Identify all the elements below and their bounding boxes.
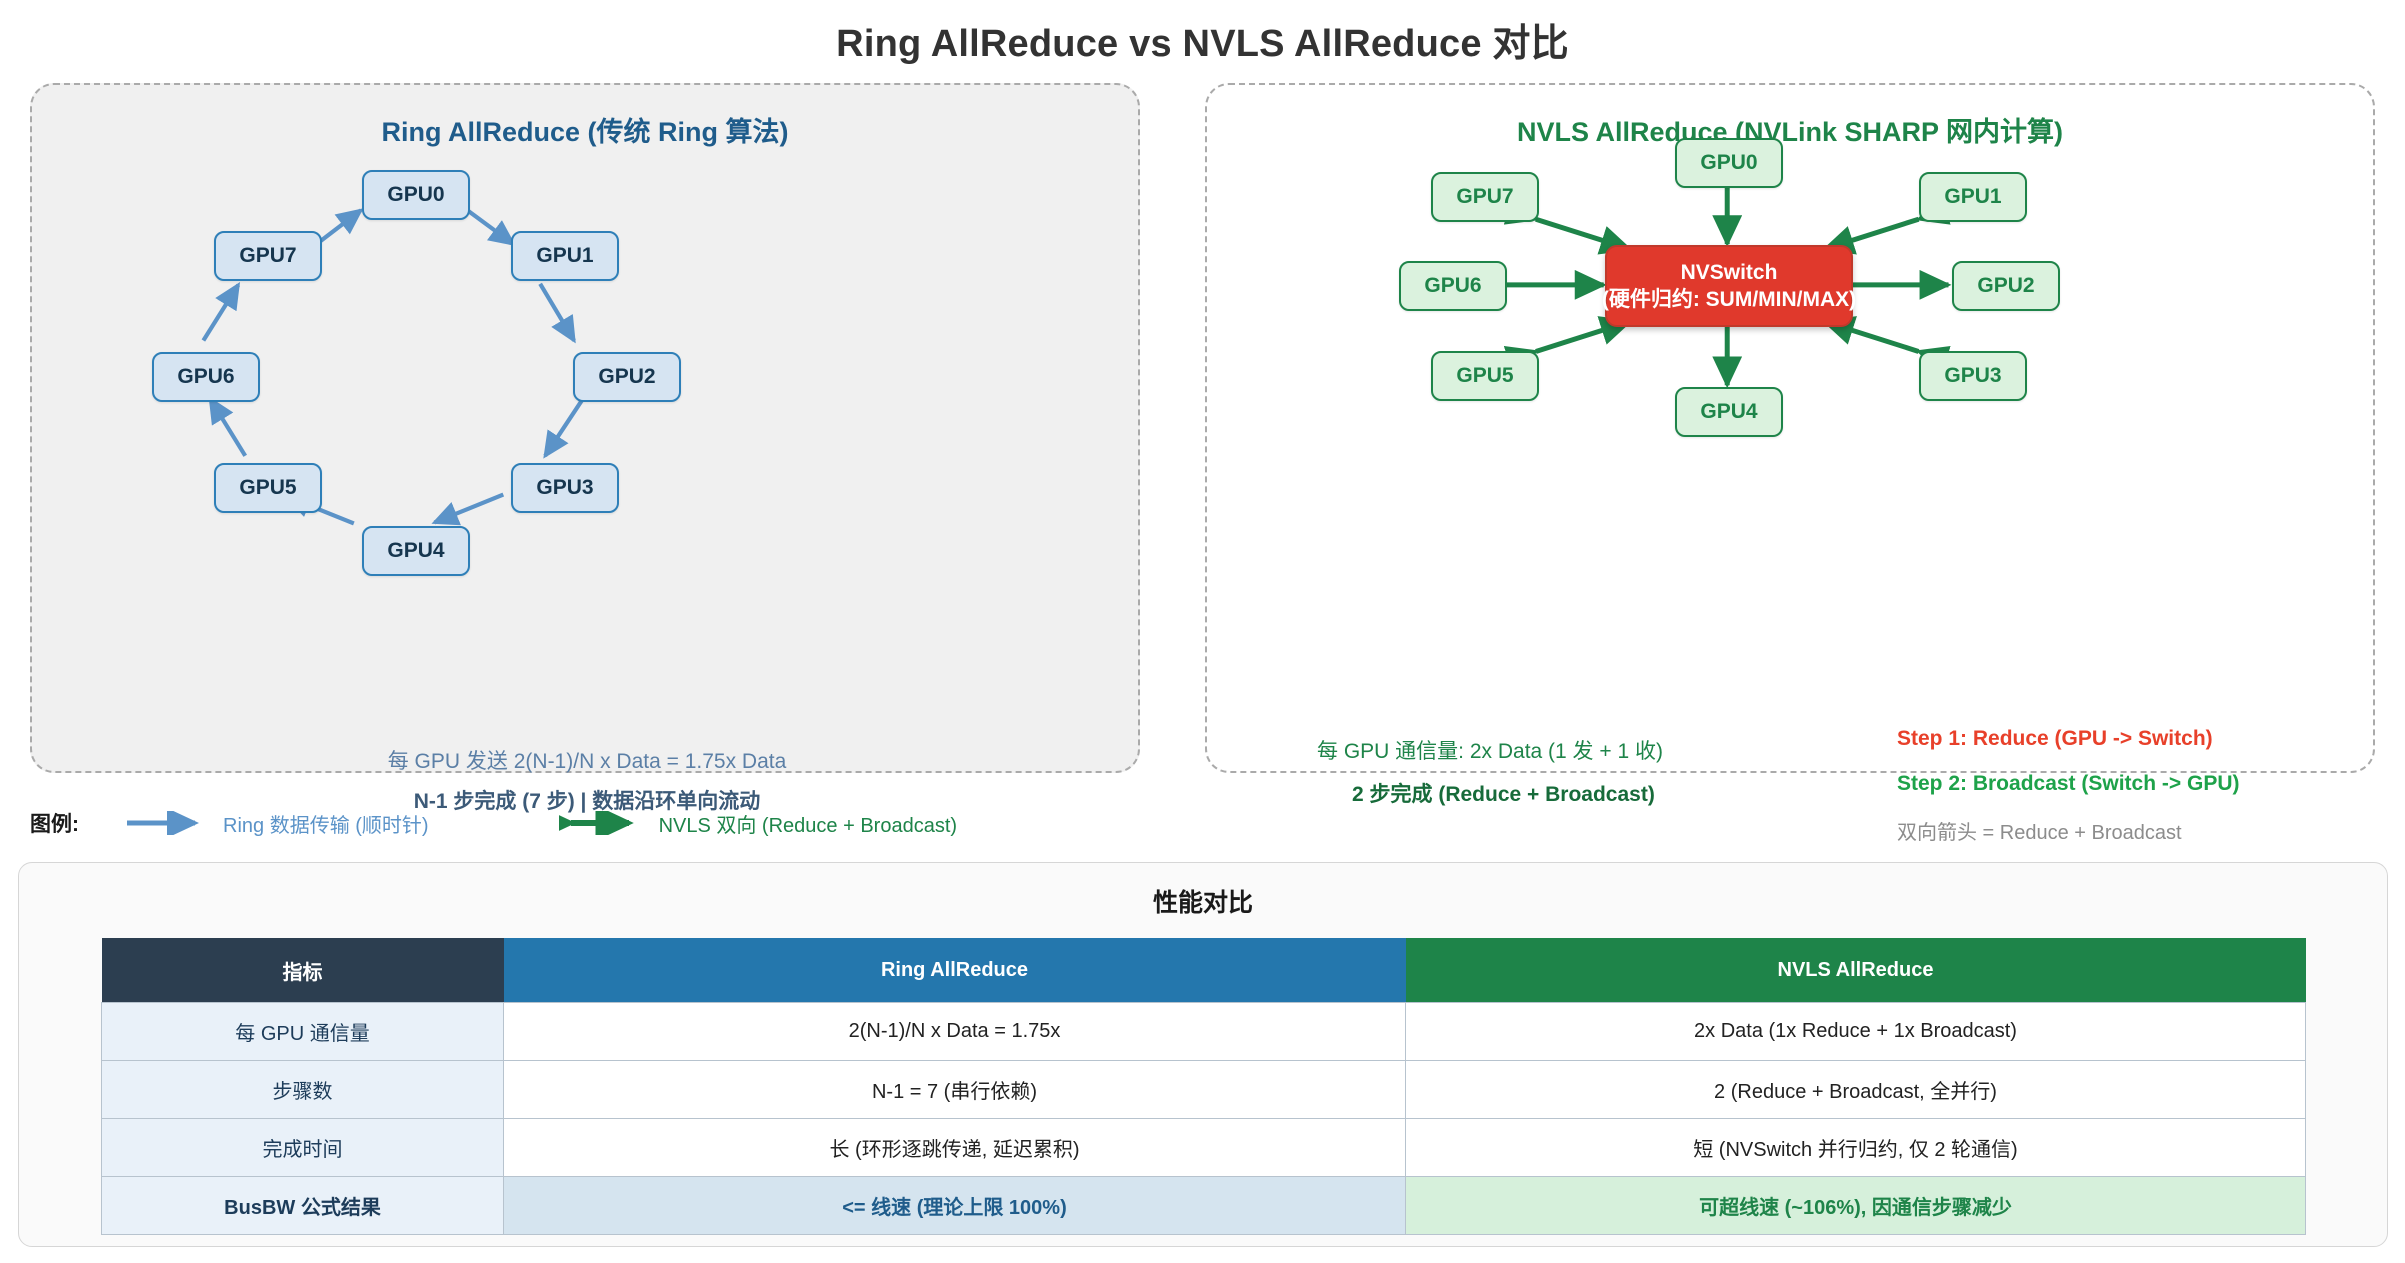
nvls-step-1: Step 1: Reduce (GPU -> Switch) (1897, 727, 2213, 751)
cell-ring: 长 (环形逐跳传递, 延迟累积) (504, 1119, 1406, 1177)
node-label: GPU1 (536, 244, 593, 268)
ring-panel-title: Ring AllReduce (传统 Ring 算法) (32, 110, 1138, 149)
node-label: GPU3 (536, 476, 593, 500)
legend: 图例: Ring 数据传输 (顺时针) (30, 800, 1330, 846)
legend-entry-ring: Ring 数据传输 (顺时针) (123, 809, 429, 838)
ring-caption-bandwidth: 每 GPU 发送 2(N-1)/N x Data = 1.75x Data (32, 745, 1142, 775)
nvls-node-gpu1[interactable]: GPU1 (1919, 172, 2027, 222)
node-label: GPU4 (1700, 400, 1757, 424)
nvls-node-gpu5[interactable]: GPU5 (1431, 351, 1539, 401)
cell-nvls: 2x Data (1x Reduce + 1x Broadcast) (1406, 1003, 2306, 1061)
nvls-panel-title: NVLS AllReduce (NVLink SHARP 网内计算) (1207, 110, 2373, 149)
node-label: GPU4 (387, 539, 444, 563)
nvswitch-subtitle: (硬件归约: SUM/MIN/MAX) (1602, 286, 1856, 313)
cell-ring: N-1 = 7 (串行依赖) (504, 1061, 1406, 1119)
cell-nvls: 2 (Reduce + Broadcast, 全并行) (1406, 1061, 2306, 1119)
nvls-node-gpu2[interactable]: GPU2 (1952, 261, 2060, 311)
nvls-allreduce-panel: NVLS AllReduce (NVLink SHARP 网内计算) (1205, 83, 2375, 773)
nvls-node-gpu7[interactable]: GPU7 (1431, 172, 1539, 222)
legend-label-nvls: NVLS 双向 (Reduce + Broadcast) (659, 809, 957, 838)
nvls-caption-bandwidth: 每 GPU 通信量: 2x Data (1 发 + 1 收) (1317, 735, 1663, 765)
node-label: GPU6 (177, 365, 234, 389)
comparison-title: 性能对比 (19, 883, 2387, 919)
node-label: GPU5 (1456, 364, 1513, 388)
ring-node-gpu5[interactable]: GPU5 (214, 463, 322, 513)
cell-nvls: 可超线速 (~106%), 因通信步骤减少 (1406, 1177, 2306, 1235)
table-row: 每 GPU 通信量 2(N-1)/N x Data = 1.75x 2x Dat… (102, 1003, 2306, 1061)
header-ring: Ring AllReduce (504, 938, 1406, 1003)
diagram-page: Ring AllReduce vs NVLS AllReduce 对比 Ring… (0, 0, 2405, 1263)
cell-nvls: 短 (NVSwitch 并行归约, 仅 2 轮通信) (1406, 1119, 2306, 1177)
nvls-step-note: 双向箭头 = Reduce + Broadcast (1897, 816, 2182, 845)
table-row: 步骤数 N-1 = 7 (串行依赖) 2 (Reduce + Broadcast… (102, 1061, 2306, 1119)
ring-node-gpu1[interactable]: GPU1 (511, 231, 619, 281)
node-label: GPU7 (1456, 185, 1513, 209)
nvswitch-node[interactable]: NVSwitch (硬件归约: SUM/MIN/MAX) (1605, 245, 1853, 327)
cell-metric: BusBW 公式结果 (102, 1177, 504, 1235)
node-label: GPU0 (387, 183, 444, 207)
cell-ring: 2(N-1)/N x Data = 1.75x (504, 1003, 1406, 1061)
header-nvls: NVLS AllReduce (1406, 938, 2306, 1003)
performance-comparison-card: 性能对比 指标 Ring AllReduce NVLS AllReduce 每 … (18, 862, 2388, 1247)
table-row: 完成时间 长 (环形逐跳传递, 延迟累积) 短 (NVSwitch 并行归约, … (102, 1119, 2306, 1177)
nvls-caption-steps: 2 步完成 (Reduce + Broadcast) (1352, 778, 1655, 808)
ring-edges (32, 85, 1138, 771)
ring-node-gpu4[interactable]: GPU4 (362, 526, 470, 576)
legend-title: 图例: (30, 808, 79, 838)
ring-node-gpu0[interactable]: GPU0 (362, 170, 470, 220)
ring-node-gpu3[interactable]: GPU3 (511, 463, 619, 513)
node-label: GPU2 (598, 365, 655, 389)
comparison-table: 指标 Ring AllReduce NVLS AllReduce 每 GPU 通… (101, 938, 2306, 1235)
nvls-step-2: Step 2: Broadcast (Switch -> GPU) (1897, 772, 2239, 796)
table-row-highlight: BusBW 公式结果 <= 线速 (理论上限 100%) 可超线速 (~106%… (102, 1177, 2306, 1235)
node-label: GPU7 (239, 244, 296, 268)
node-label: GPU1 (1944, 185, 2001, 209)
ring-node-gpu7[interactable]: GPU7 (214, 231, 322, 281)
nvls-node-gpu4[interactable]: GPU4 (1675, 387, 1783, 437)
legend-entry-nvls: NVLS 双向 (Reduce + Broadcast) (559, 809, 957, 838)
ring-allreduce-panel: Ring AllReduce (传统 Ring 算法) (30, 83, 1140, 773)
ring-node-gpu2[interactable]: GPU2 (573, 352, 681, 402)
nvls-node-gpu6[interactable]: GPU6 (1399, 261, 1507, 311)
nvls-edges (1207, 85, 2373, 771)
node-label: GPU5 (239, 476, 296, 500)
arrow-bidirectional-icon (559, 811, 645, 835)
arrow-right-icon (123, 811, 209, 835)
cell-metric: 步骤数 (102, 1061, 504, 1119)
node-label: GPU2 (1977, 274, 2034, 298)
node-label: GPU6 (1424, 274, 1481, 298)
legend-label-ring: Ring 数据传输 (顺时针) (223, 809, 429, 838)
cell-metric: 完成时间 (102, 1119, 504, 1177)
header-metric: 指标 (102, 938, 504, 1003)
node-label: GPU0 (1700, 151, 1757, 175)
nvswitch-title: NVSwitch (1681, 259, 1778, 286)
page-title: Ring AllReduce vs NVLS AllReduce 对比 (0, 12, 2405, 67)
nvls-node-gpu0[interactable]: GPU0 (1675, 138, 1783, 188)
node-label: GPU3 (1944, 364, 2001, 388)
nvls-node-gpu3[interactable]: GPU3 (1919, 351, 2027, 401)
cell-ring: <= 线速 (理论上限 100%) (504, 1177, 1406, 1235)
table-header-row: 指标 Ring AllReduce NVLS AllReduce (102, 938, 2306, 1003)
cell-metric: 每 GPU 通信量 (102, 1003, 504, 1061)
ring-node-gpu6[interactable]: GPU6 (152, 352, 260, 402)
